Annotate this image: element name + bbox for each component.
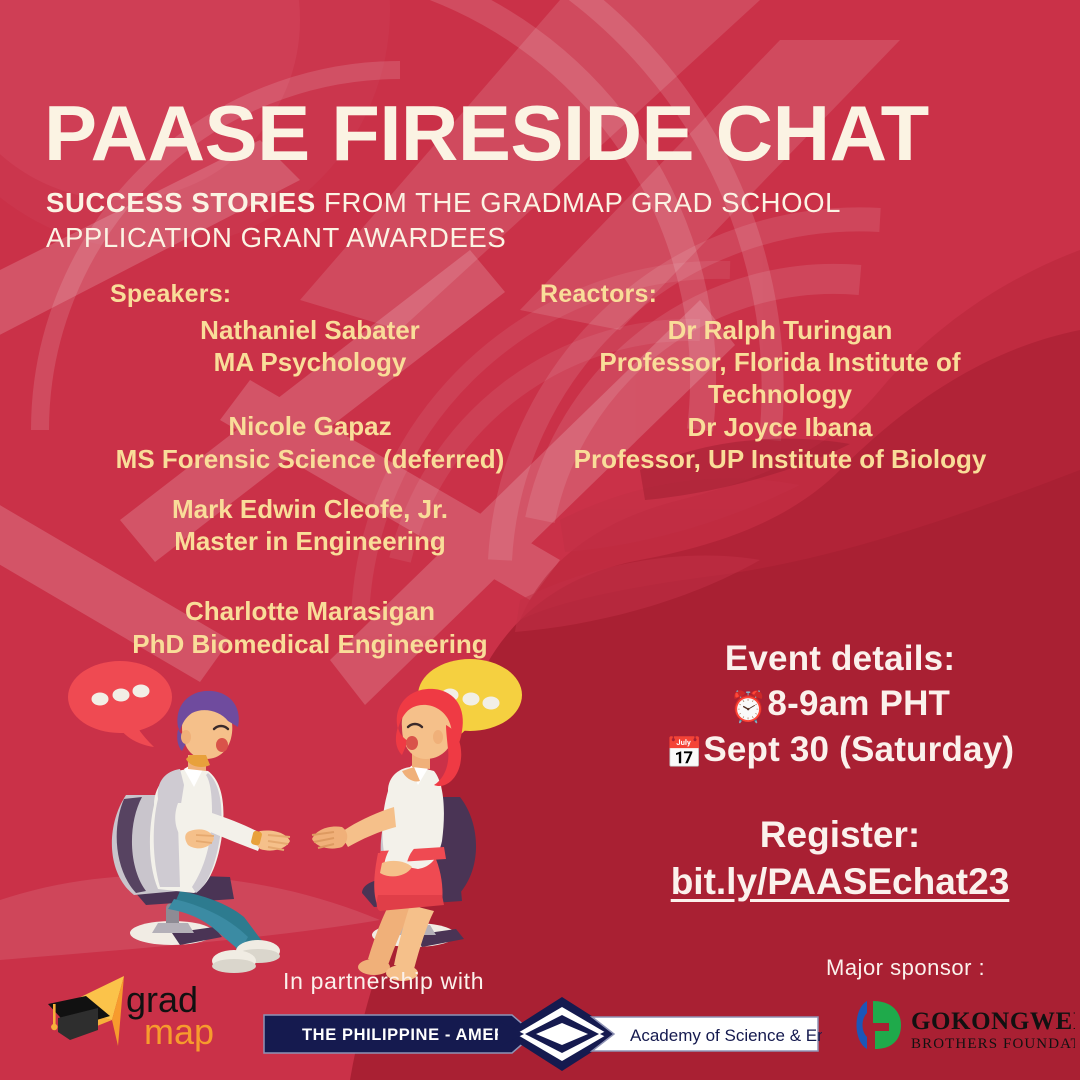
reactor-affiliation: Professor, UP Institute of Biology xyxy=(525,443,1035,475)
list-item: Dr Ralph Turingan Professor, Florida Ins… xyxy=(525,314,1035,411)
figure-right xyxy=(312,689,476,981)
list-item: Charlotte Marasigan PhD Biomedical Engin… xyxy=(100,595,520,659)
subtitle: SUCCESS STORIES FROM THE GRADMAP GRAD SC… xyxy=(46,185,1006,255)
list-item: Nathaniel Sabater MA Psychology xyxy=(100,314,520,378)
list-item: Mark Edwin Cleofe, Jr. Master in Enginee… xyxy=(100,493,520,557)
reactors-list: Dr Ralph Turingan Professor, Florida Ins… xyxy=(525,314,1035,475)
partnership-label: In partnership with xyxy=(283,968,484,995)
reactor-affiliation: Professor, Florida Institute of Technolo… xyxy=(525,346,1035,410)
reactor-name: Dr Ralph Turingan xyxy=(525,314,1035,346)
speaker-name: Nicole Gapaz xyxy=(100,410,520,442)
sponsor-mark-icon xyxy=(857,1001,902,1049)
speech-bubble-left xyxy=(68,661,172,747)
speaker-name: Nathaniel Sabater xyxy=(100,314,520,346)
reactors-heading: Reactors: xyxy=(540,280,657,309)
gokongwei-logo: GOKONGWEI BROTHERS FOUNDATION xyxy=(845,995,1075,1057)
event-time: 8-9am PHT xyxy=(767,684,950,723)
paase-logo: THE PHILIPPINE - AMERICAN Academy of Sci… xyxy=(262,995,822,1073)
calendar-icon: 📅 xyxy=(666,736,704,771)
sponsor-label: Major sponsor : xyxy=(826,955,985,981)
conversation-illustration xyxy=(62,655,532,985)
gradmap-word-map: map xyxy=(144,1011,214,1052)
register-link[interactable]: bit.ly/PAASEchat23 xyxy=(671,858,1010,906)
reactor-name: Dr Joyce Ibana xyxy=(525,411,1035,443)
speakers-list: Nathaniel Sabater MA Psychology Nicole G… xyxy=(100,314,520,660)
gradmap-logo: grad map xyxy=(40,972,245,1054)
event-time-row: ⏰8-9am PHT xyxy=(620,681,1060,727)
event-date-row: 📅Sept 30 (Saturday) xyxy=(620,727,1060,773)
event-date: Sept 30 (Saturday) xyxy=(703,730,1014,769)
event-details-title: Event details: xyxy=(620,638,1060,681)
paase-banner-right-text: Academy of Science & Engineering xyxy=(630,1026,822,1045)
register-title: Register: xyxy=(620,812,1060,858)
speaker-name: Mark Edwin Cleofe, Jr. xyxy=(100,493,520,525)
speaker-name: Charlotte Marasigan xyxy=(100,595,520,627)
speaker-affiliation: Master in Engineering xyxy=(100,525,520,557)
list-item: Dr Joyce Ibana Professor, UP Institute o… xyxy=(525,411,1035,475)
paase-banner-right: Academy of Science & Engineering xyxy=(592,1017,822,1051)
sponsor-tagline: BROTHERS FOUNDATION xyxy=(911,1036,1075,1052)
list-item: Nicole Gapaz MS Forensic Science (deferr… xyxy=(100,410,520,474)
alarm-clock-icon: ⏰ xyxy=(730,690,768,725)
speaker-affiliation: MA Psychology xyxy=(100,346,520,378)
event-poster: PAASE FIRESIDE CHAT SUCCESS STORIES FROM… xyxy=(0,0,1080,1080)
speakers-heading: Speakers: xyxy=(110,280,231,309)
event-details-block: Event details: ⏰8-9am PHT 📅Sept 30 (Satu… xyxy=(620,638,1060,773)
page-title: PAASE FIRESIDE CHAT xyxy=(44,96,1054,171)
subtitle-bold: SUCCESS STORIES xyxy=(46,187,316,218)
headline-block: PAASE FIRESIDE CHAT SUCCESS STORIES FROM… xyxy=(44,96,1034,255)
sponsor-name: GOKONGWEI xyxy=(911,1008,1075,1035)
paase-diamond-emblem xyxy=(498,997,626,1071)
speaker-affiliation: MS Forensic Science (deferred) xyxy=(100,443,520,475)
participants-section: Speakers: Nathaniel Sabater MA Psycholog… xyxy=(0,280,1080,660)
register-block: Register: bit.ly/PAASEchat23 xyxy=(620,812,1060,906)
